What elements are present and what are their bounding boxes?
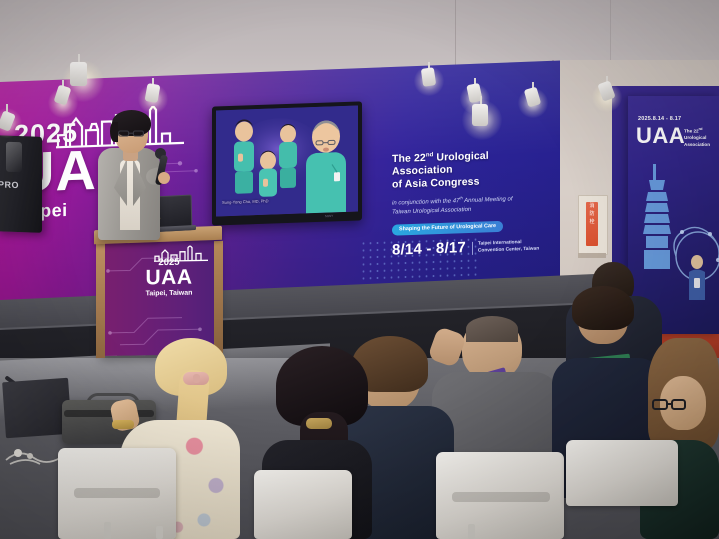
congress-subtitle: in conjunction with the 47th Annual Meet… (392, 190, 544, 217)
chair-vent (74, 488, 160, 498)
banner-subtitle-ordinal: nd (699, 127, 703, 131)
banner-subtitle-a: The 22 (684, 129, 699, 134)
banner-subtitle: The 22nd Urological Association (684, 126, 719, 148)
podium-frame-right (214, 241, 223, 357)
chair-vent (452, 492, 550, 502)
eyeglasses-icon (652, 398, 686, 411)
congress-venue: Taipei International Convention Center, … (472, 240, 539, 255)
congress-title-line2: of Asia Congress (392, 175, 480, 190)
eyeglasses-icon (118, 130, 145, 137)
banner-dates: 2025.8.14 - 8.17 (638, 116, 681, 122)
podium-logo: 2025 UAA Taipei, Taiwan (130, 257, 208, 298)
banner-acronym: UAA (636, 123, 685, 149)
chair-leg (468, 524, 475, 539)
banner-subtitle-b: Urological (684, 135, 706, 140)
podium-logo-acronym: UAA (130, 267, 208, 288)
congress-venue-line1: Taipei International (478, 240, 522, 247)
congress-venue-line2: Convention Center, Taiwan (478, 246, 539, 253)
podium-skyline-icon (154, 245, 210, 262)
conference-photo-scene: 消 防 栓 (0, 0, 719, 539)
track-spotlight (70, 62, 87, 86)
chair-leg (156, 526, 163, 539)
banner-figure-icon (684, 254, 710, 306)
congress-title-a: The 22 (392, 152, 426, 165)
congress-title: The 22nd Urological Association of Asia … (392, 145, 544, 190)
presenter-sideburn (110, 122, 118, 142)
congress-subtitle-line2: Taiwan Urological Association (392, 207, 471, 216)
presenter-hand (158, 172, 170, 184)
screen-brand-label: SONY (320, 214, 338, 219)
track-spotlight (472, 104, 488, 126)
congress-subtitle-b: Annual Meeting of (463, 196, 513, 204)
audience-hair (572, 286, 634, 330)
sign-character-1: 消 (586, 202, 598, 210)
pa-speaker-brand-label: PRO (0, 179, 34, 190)
equipment-bag-pocket (64, 410, 154, 417)
track-spotlight (421, 67, 436, 87)
podium-frame-left (96, 238, 105, 358)
chair-leg (104, 522, 111, 539)
taipei-101-icon (640, 164, 674, 269)
congress-subtitle-a: in conjunction with the 47 (392, 198, 459, 206)
pa-speaker-highlight (6, 142, 22, 173)
chair-seat[interactable] (254, 470, 352, 539)
congress-dates: 8/14 - 8/17 (392, 240, 466, 258)
hair-tie (306, 418, 332, 429)
hair-bow-knot (193, 374, 200, 383)
chair-seat[interactable] (566, 440, 678, 506)
podium-logo-city: Taipei, Taiwan (130, 288, 208, 298)
congress-tagline-pill: Shaping the Future of Urological Care (392, 220, 503, 235)
banner-subtitle-line2: Association (684, 142, 710, 147)
wristwatch (112, 420, 134, 429)
audience-hair (466, 316, 518, 342)
sign-character-2: 防 (586, 210, 598, 218)
congress-title-block: The 22nd Urological Association of Asia … (392, 145, 544, 257)
